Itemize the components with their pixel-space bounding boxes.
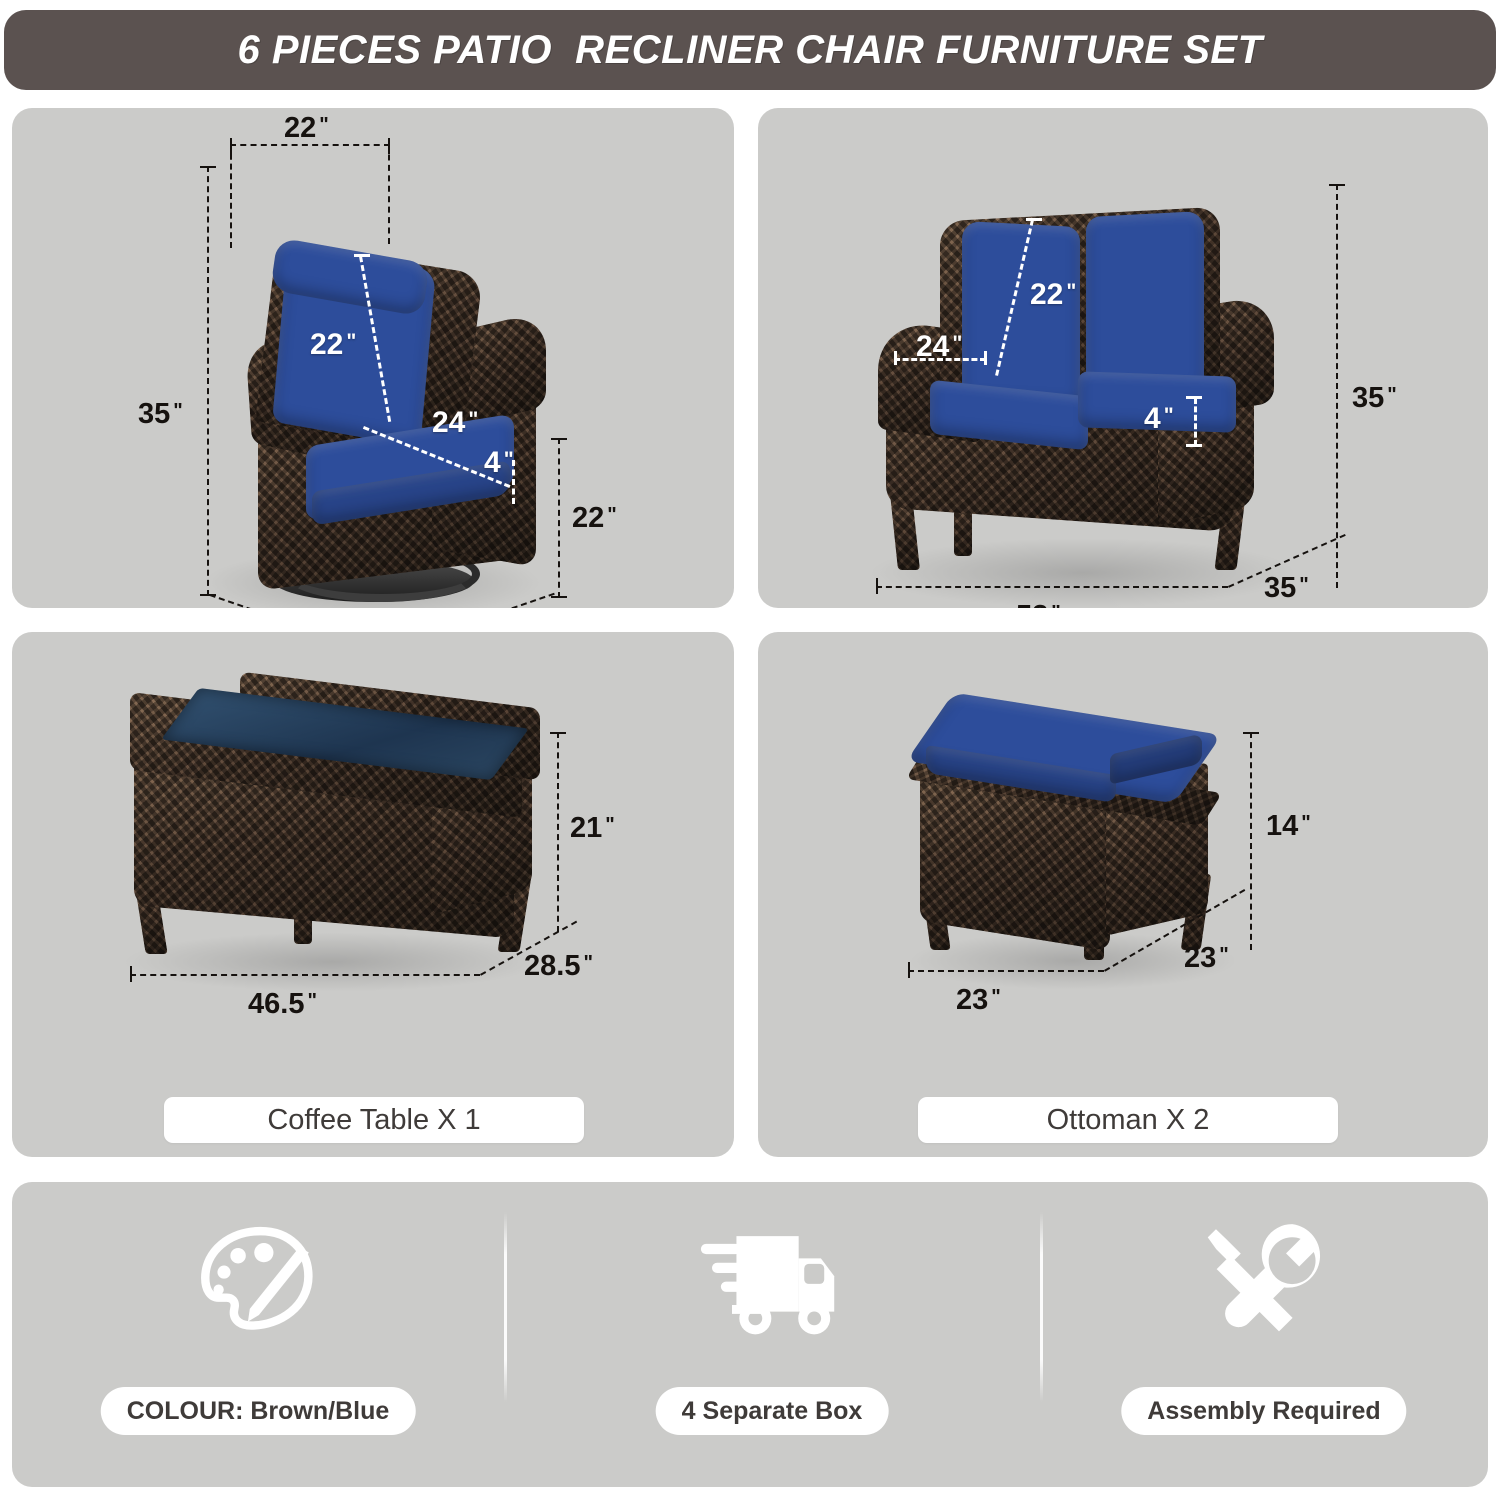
measure-tick: [876, 578, 878, 594]
measure-tick: [1186, 444, 1202, 447]
product-panel-loveseat: 35" 53" 35" 22" 24: [758, 108, 1488, 608]
dimension-length: 46.5": [248, 990, 317, 1019]
measure-tick: [550, 732, 566, 734]
loveseat-illustration: 35" 53" 35" 22" 24: [758, 108, 1488, 608]
dimension-width: 23": [956, 986, 1001, 1015]
measure-line-length: [130, 974, 480, 976]
measure-line-top-width: [230, 144, 390, 146]
delivery-truck-icon: [692, 1210, 852, 1365]
product-label-text: Ottoman X 2: [1047, 1106, 1210, 1135]
measure-extension: [388, 144, 390, 244]
ottoman-illustration: 14" 23" 23": [758, 632, 1488, 1157]
page-title: 6 PIECES PATIO RECLINER CHAIR FURNITURE …: [237, 28, 1262, 73]
product-label-coffee-table: Coffee Table X 1: [164, 1097, 584, 1143]
dimension-seat-depth: 24": [916, 332, 962, 362]
feature-label-text: Assembly Required: [1147, 1397, 1380, 1426]
dimension-seat-depth: 24": [432, 408, 478, 438]
feature-label-text: 4 Separate Box: [682, 1397, 863, 1426]
measure-line-cushion-thickness: [1194, 398, 1197, 446]
loveseat-back-cushion-left: [962, 221, 1080, 409]
measure-tick: [354, 254, 370, 257]
measure-tick: [130, 966, 132, 982]
product-panel-ottoman: 14" 23" 23" Ottoman X 2: [758, 632, 1488, 1157]
wicker-chair-illustration: 22" 35" 22" 26" 30": [12, 108, 734, 608]
measure-tick: [551, 438, 567, 440]
measure-line-height: [207, 166, 209, 596]
measure-line-seat-height: [558, 438, 560, 598]
header-banner: 6 PIECES PATIO RECLINER CHAIR FURNITURE …: [4, 10, 1496, 90]
feature-label-shipping: 4 Separate Box: [656, 1387, 889, 1435]
feature-label-text: COLOUR: Brown/Blue: [127, 1397, 390, 1426]
measure-extension: [230, 144, 232, 248]
floor-shadow: [122, 932, 542, 992]
dimension-overall-height: 35": [1352, 384, 1397, 413]
dimension-seat-height: 22": [572, 504, 617, 533]
measure-tick: [908, 962, 910, 978]
feature-colour: COLOUR: Brown/Blue: [12, 1182, 504, 1487]
coffee-table-illustration: 21" 46.5" 28.5": [12, 632, 734, 1157]
measure-line-width: [908, 970, 1104, 972]
dimension-width: 53": [1016, 602, 1061, 608]
measure-tick: [1186, 396, 1202, 399]
dimension-cushion-thickness: 4": [484, 448, 514, 478]
feature-label-colour: COLOUR: Brown/Blue: [101, 1387, 416, 1435]
dimension-depth: 28.5": [524, 952, 593, 981]
measure-tick: [1243, 732, 1259, 734]
tools-icon: [1189, 1210, 1339, 1365]
dimension-depth: 23": [1184, 944, 1229, 973]
dimension-height: 14": [1266, 812, 1311, 841]
feature-assembly: Assembly Required: [1040, 1182, 1488, 1487]
measure-line-height: [557, 732, 559, 932]
measure-tick: [984, 351, 987, 365]
measure-line-width: [876, 586, 1228, 588]
paint-palette-icon: [183, 1210, 333, 1365]
dimension-back-cushion-height: 22": [1030, 280, 1076, 310]
measure-tick: [894, 351, 897, 365]
product-label-ottoman: Ottoman X 2: [918, 1097, 1338, 1143]
feature-shipping: 4 Separate Box: [504, 1182, 1040, 1487]
measure-tick: [551, 596, 567, 598]
product-panel-coffee-table: 21" 46.5" 28.5" Coffee Table X 1: [12, 632, 734, 1157]
measure-tick: [1026, 218, 1042, 221]
dimension-top-width: 22": [284, 114, 329, 143]
product-label-text: Coffee Table X 1: [267, 1106, 480, 1135]
product-panel-wicker-chair: 22" 35" 22" 26" 30": [12, 108, 734, 608]
measure-line-height: [1336, 184, 1338, 588]
feature-label-assembly: Assembly Required: [1121, 1387, 1406, 1435]
dimension-height: 21": [570, 814, 615, 843]
dimension-cushion-thickness: 4": [1144, 404, 1174, 434]
product-infographic: 6 PIECES PATIO RECLINER CHAIR FURNITURE …: [0, 0, 1500, 1497]
dimension-depth: 35": [1264, 574, 1309, 603]
measure-line-height: [1250, 732, 1252, 950]
features-panel: COLOUR: Brown/Blue: [12, 1182, 1488, 1487]
dimension-back-cushion-height: 22": [310, 330, 356, 360]
dimension-overall-height: 35": [138, 400, 183, 429]
measure-tick: [200, 166, 216, 168]
measure-tick: [1329, 184, 1345, 186]
